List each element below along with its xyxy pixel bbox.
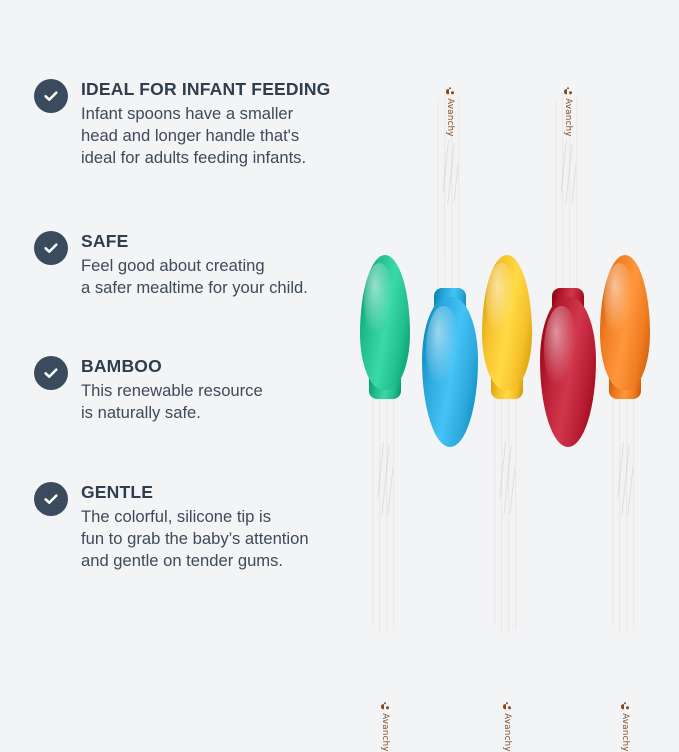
check-circle-icon	[34, 482, 68, 516]
bamboo-handle: Avanchy	[494, 388, 520, 633]
product-spoon-group: Avanchy Avanchy	[360, 0, 679, 679]
feature-body-line: This renewable resource	[81, 380, 263, 402]
feature-body-line: ideal for adults feeding infants.	[81, 147, 330, 169]
feature-body: This renewable resource is naturally saf…	[81, 380, 263, 424]
feature-body: Feel good about creating a safer mealtim…	[81, 255, 308, 299]
avanchy-brand-engraving: Avanchy	[563, 87, 573, 137]
avanchy-brand-engraving: Avanchy	[620, 702, 630, 752]
silicone-spoon-bowl	[482, 255, 532, 390]
avanchy-bird-logo-icon	[446, 87, 454, 95]
wood-grain-texture	[372, 388, 398, 633]
check-circle-icon	[34, 231, 68, 265]
bamboo-handle: Avanchy	[437, 92, 463, 310]
infographic-canvas: IDEAL FOR INFANT FEEDING Infant spoons h…	[0, 0, 679, 679]
bamboo-handle: Avanchy	[372, 388, 398, 633]
orange-spoon: Avanchy	[600, 255, 650, 633]
check-circle-icon	[34, 356, 68, 390]
avanchy-brand-engraving: Avanchy	[445, 87, 455, 137]
feature-body-line: Feel good about creating	[81, 255, 308, 277]
feature-heading: GENTLE	[81, 482, 309, 502]
blue-spoon: Avanchy	[422, 92, 478, 447]
avanchy-bird-logo-icon	[381, 702, 389, 710]
feature-heading: BAMBOO	[81, 356, 263, 376]
feature-heading: IDEAL FOR INFANT FEEDING	[81, 79, 330, 99]
feature-item-safe: SAFE Feel good about creating a safer me…	[34, 230, 308, 299]
brand-name: Avanchy	[502, 713, 512, 752]
silicone-spoon-bowl	[422, 297, 478, 447]
feature-body: The colorful, silicone tip is fun to gra…	[81, 506, 309, 572]
brand-name: Avanchy	[445, 98, 455, 137]
bamboo-handle: Avanchy	[555, 92, 581, 310]
brand-name: Avanchy	[563, 98, 573, 137]
feature-text: IDEAL FOR INFANT FEEDING Infant spoons h…	[81, 78, 330, 169]
avanchy-brand-engraving: Avanchy	[502, 702, 512, 752]
silicone-spoon-bowl	[360, 255, 410, 390]
silicone-spoon-bowl	[540, 297, 596, 447]
wood-grain-texture	[494, 388, 520, 633]
feature-text: GENTLE The colorful, silicone tip is fun…	[81, 481, 309, 572]
feature-body-line: head and longer handle that's	[81, 125, 330, 147]
feature-body-line: a safer mealtime for your child.	[81, 277, 308, 299]
feature-heading: SAFE	[81, 231, 308, 251]
feature-body-line: Infant spoons have a smaller	[81, 103, 330, 125]
feature-body-line: The colorful, silicone tip is	[81, 506, 309, 528]
feature-list: IDEAL FOR INFANT FEEDING Infant spoons h…	[0, 0, 400, 679]
brand-name: Avanchy	[620, 713, 630, 752]
feature-body-line: fun to grab the baby’s attention	[81, 528, 309, 550]
red-spoon: Avanchy	[540, 92, 596, 447]
feature-body: Infant spoons have a smaller head and lo…	[81, 103, 330, 169]
feature-body-line: is naturally safe.	[81, 402, 263, 424]
brand-name: Avanchy	[380, 713, 390, 752]
wood-grain-texture	[612, 388, 638, 633]
feature-item-bamboo: BAMBOO This renewable resource is natura…	[34, 355, 263, 424]
bamboo-handle: Avanchy	[612, 388, 638, 633]
avanchy-bird-logo-icon	[564, 87, 572, 95]
yellow-spoon: Avanchy	[482, 255, 532, 633]
avanchy-bird-logo-icon	[503, 702, 511, 710]
avanchy-brand-engraving: Avanchy	[380, 702, 390, 752]
feature-body-line: and gentle on tender gums.	[81, 550, 309, 572]
silicone-spoon-bowl	[600, 255, 650, 390]
feature-item-ideal-for-infant-feeding: IDEAL FOR INFANT FEEDING Infant spoons h…	[34, 78, 330, 169]
feature-item-gentle: GENTLE The colorful, silicone tip is fun…	[34, 481, 309, 572]
green-spoon: Avanchy	[360, 255, 410, 633]
avanchy-bird-logo-icon	[621, 702, 629, 710]
feature-text: BAMBOO This renewable resource is natura…	[81, 355, 263, 424]
feature-text: SAFE Feel good about creating a safer me…	[81, 230, 308, 299]
check-circle-icon	[34, 79, 68, 113]
